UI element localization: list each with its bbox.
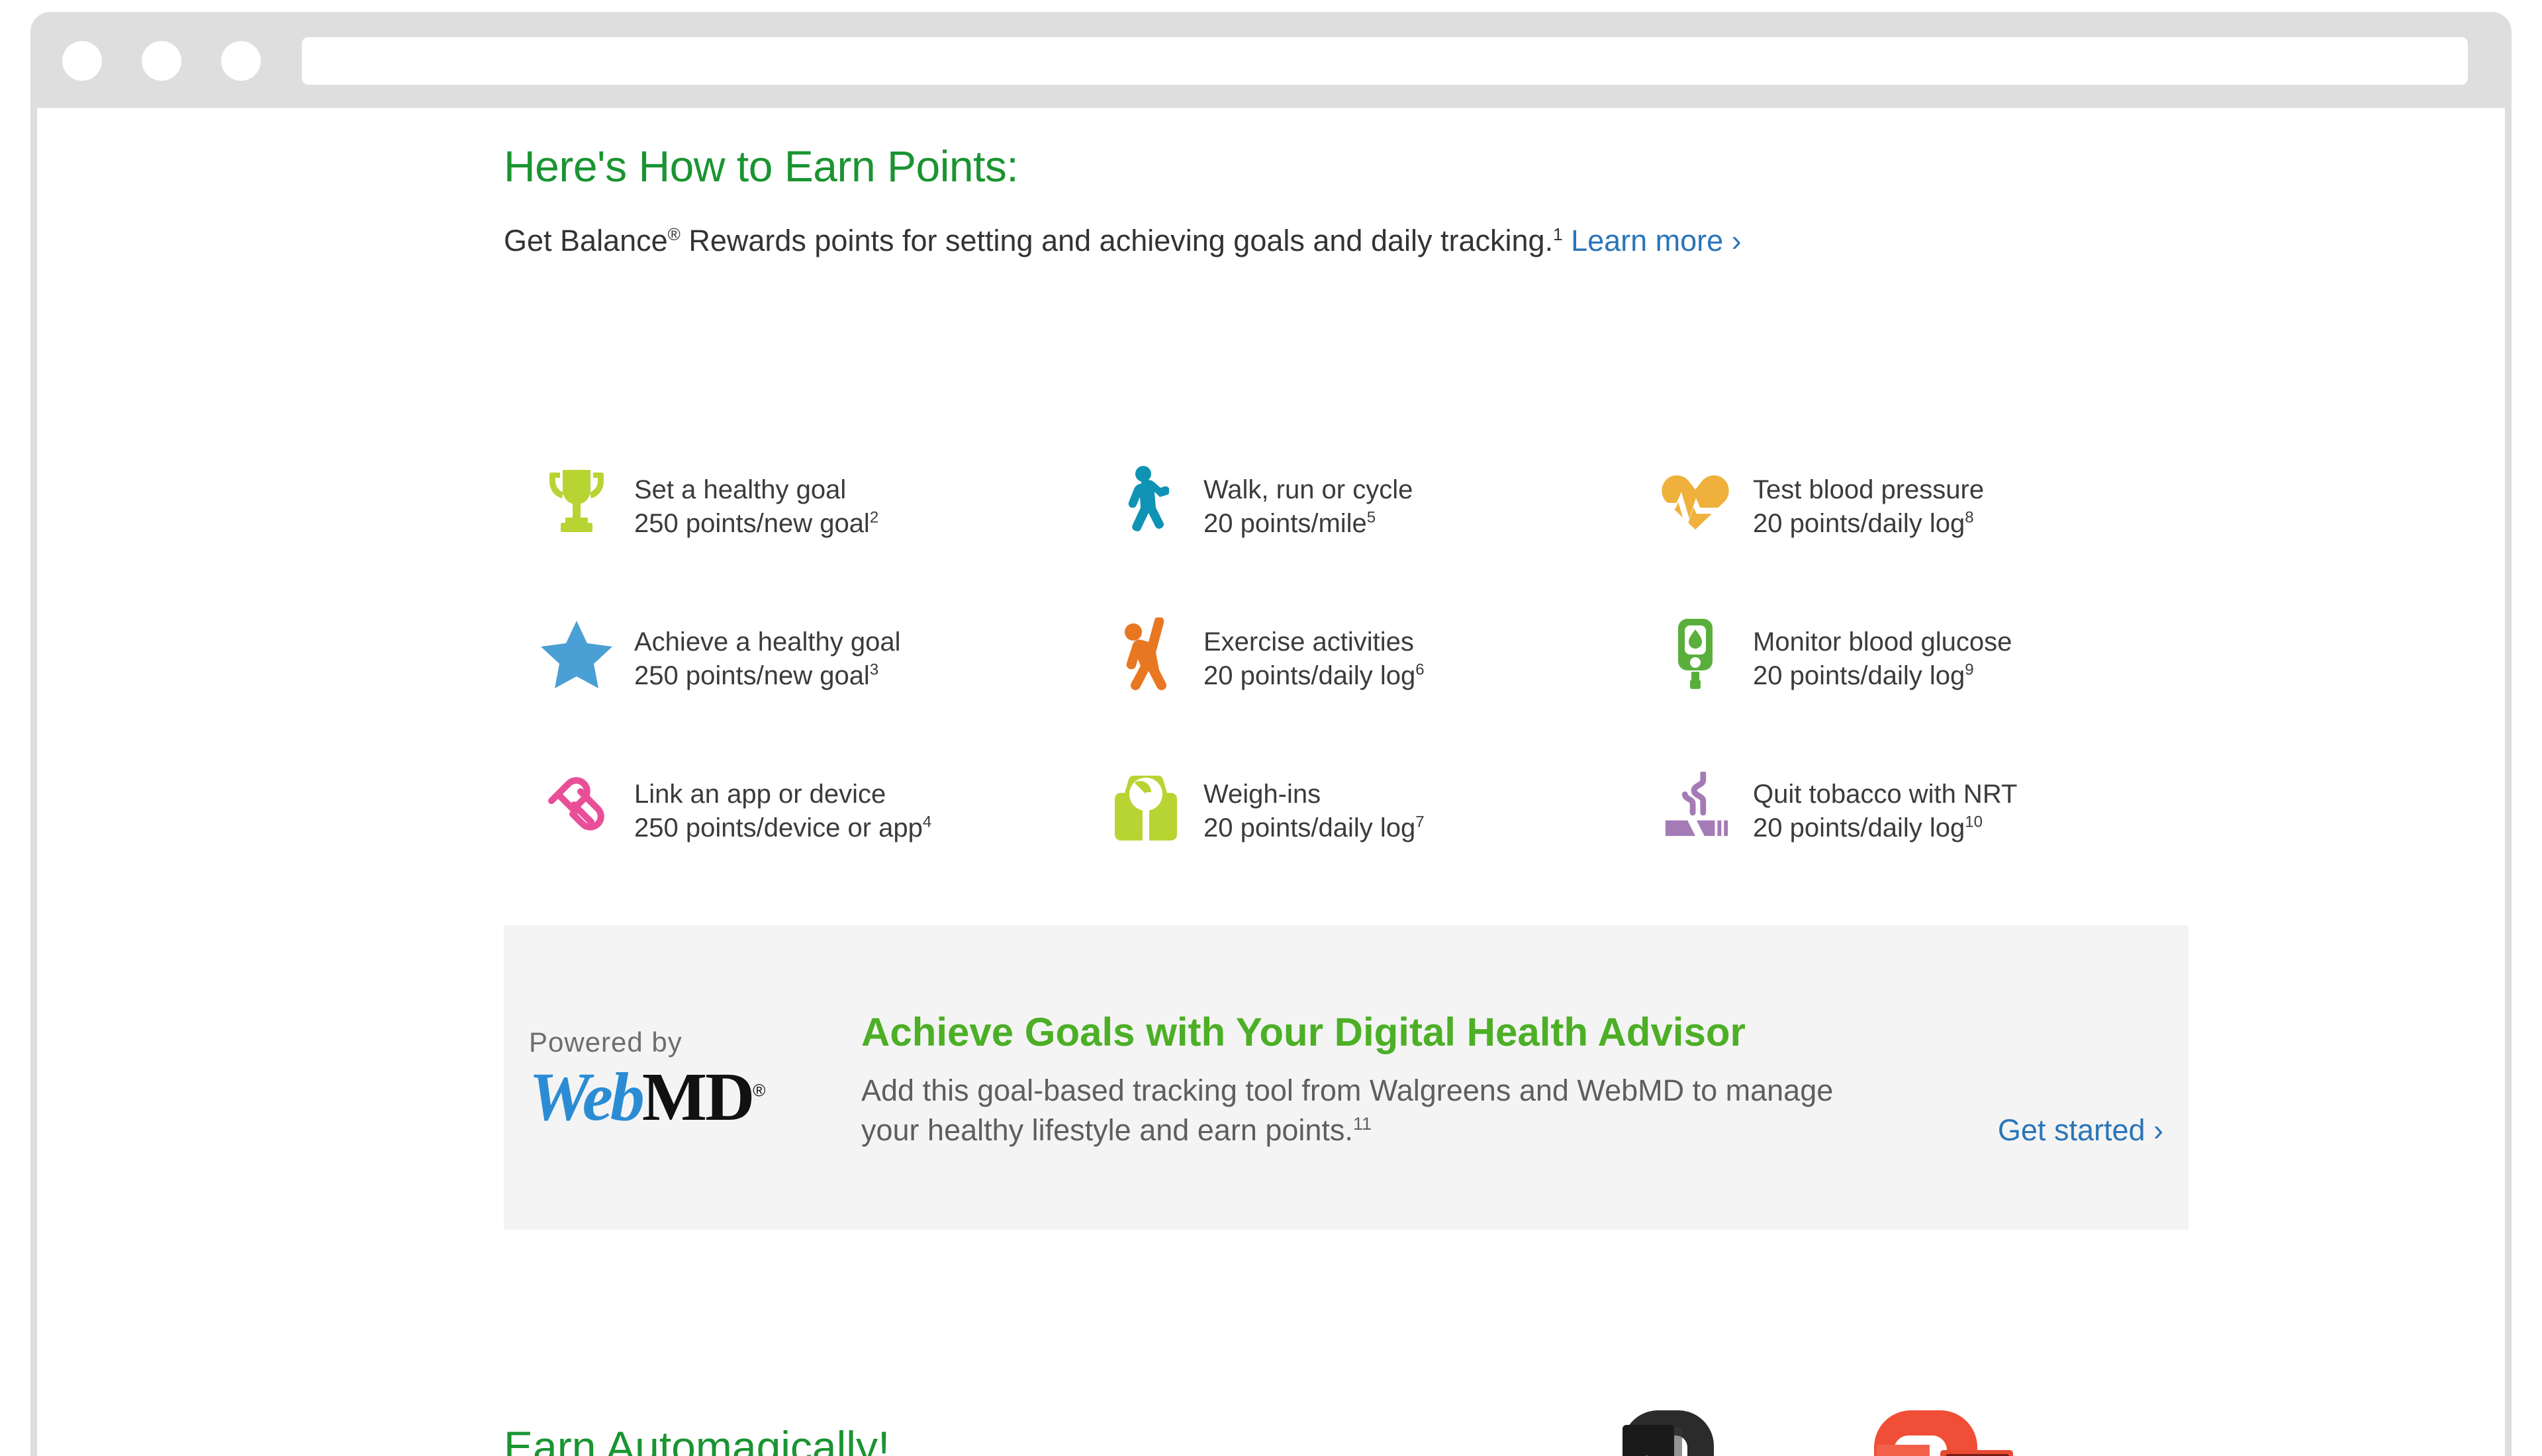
glucose-meter-icon	[1659, 611, 1732, 697]
webmd-logo-web-word: Web	[529, 1059, 642, 1135]
earn-item-quit-tobacco-with-nrt[interactable]: Quit tobacco with NRT 20 points/daily lo…	[1659, 763, 2142, 915]
earn-item-link-an-app-or-device[interactable]: Link an app or device 250 points/device …	[540, 763, 1109, 915]
earn-item-title: Exercise activities	[1203, 625, 1425, 659]
earn-item-footnote-marker: 9	[1965, 661, 1973, 679]
learn-more-link[interactable]: Learn more ›	[1571, 224, 1742, 257]
page-viewport: Here's How to Earn Points: Get Balance® …	[37, 108, 2505, 1456]
earn-item-title: Set a healthy goal	[634, 473, 878, 507]
webmd-headline: Achieve Goals with Your Digital Health A…	[861, 1009, 2163, 1055]
earn-item-points-value: 250 points/new goal	[634, 661, 870, 690]
earn-item-points-value: 20 points/daily log	[1203, 813, 1415, 842]
earn-item-text: Achieve a healthy goal 250 points/new go…	[634, 611, 901, 693]
earn-item-weigh-ins[interactable]: Weigh-ins 20 points/daily log7	[1109, 763, 1659, 915]
earn-item-achieve-a-healthy-goal[interactable]: Achieve a healthy goal 250 points/new go…	[540, 611, 1109, 763]
earn-item-monitor-blood-glucose[interactable]: Monitor blood glucose 20 points/daily lo…	[1659, 611, 2142, 763]
earn-item-text: Set a healthy goal 250 points/new goal2	[634, 459, 878, 541]
fitness-devices-illustration: 135	[1596, 1398, 2059, 1456]
webmd-body-line-1: Add this goal-based tracking tool from W…	[861, 1071, 2163, 1110]
exercising-person-icon	[1109, 611, 1182, 697]
webmd-logo: WebMD®	[529, 1061, 861, 1133]
no-smoking-icon	[1659, 763, 1732, 849]
earn-item-text: Walk, run or cycle 20 points/mile5	[1203, 459, 1413, 541]
webmd-body-line-2: your healthy lifestyle and earn points.1…	[861, 1111, 1372, 1150]
earn-item-title: Link an app or device	[634, 778, 931, 811]
webmd-body-line-2-text: your healthy lifestyle and earn points.	[861, 1113, 1353, 1147]
close-window-icon[interactable]	[62, 41, 102, 81]
webmd-logo-md-word: MD	[642, 1059, 753, 1135]
earn-item-points: 250 points/new goal3	[634, 659, 901, 693]
earn-item-text: Weigh-ins 20 points/daily log7	[1203, 763, 1425, 845]
earn-item-text: Quit tobacco with NRT 20 points/daily lo…	[1753, 763, 2017, 845]
earn-item-test-blood-pressure[interactable]: Test blood pressure 20 points/daily log8	[1659, 459, 2142, 611]
earn-item-points-value: 20 points/daily log	[1753, 509, 1965, 538]
earn-item-points: 250 points/device or app4	[634, 811, 931, 845]
earn-item-points: 250 points/new goal2	[634, 507, 878, 541]
earn-item-points: 20 points/daily log6	[1203, 659, 1425, 693]
earn-item-title: Achieve a healthy goal	[634, 625, 901, 659]
maximize-window-icon[interactable]	[221, 41, 261, 81]
earn-automagically-title: Earn Automagically!	[504, 1422, 890, 1456]
earn-item-points-value: 20 points/daily log	[1753, 813, 1965, 842]
earn-item-footnote-marker: 10	[1965, 813, 1983, 831]
browser-titlebar	[30, 12, 2512, 108]
page-title: Here's How to Earn Points:	[504, 141, 1018, 191]
earn-points-row: Link an app or device 250 points/device …	[540, 763, 2142, 915]
webmd-promo-banner[interactable]: Powered by WebMD® Achieve Goals with You…	[504, 925, 2189, 1230]
registered-trademark-mark: ®	[668, 224, 681, 244]
earn-item-title: Weigh-ins	[1203, 778, 1425, 811]
link-chain-icon	[540, 763, 613, 849]
weight-scale-icon	[1109, 763, 1182, 849]
earn-item-points-value: 20 points/mile	[1203, 509, 1367, 538]
walking-person-icon	[1109, 459, 1182, 545]
earn-points-row: Achieve a healthy goal 250 points/new go…	[540, 611, 2142, 763]
earn-item-footnote-marker: 7	[1415, 813, 1424, 831]
trophy-icon	[540, 459, 613, 545]
powered-by-label: Powered by	[529, 1026, 861, 1058]
intro-paragraph: Get Balance® Rewards points for setting …	[504, 224, 1742, 258]
earn-item-points: 20 points/daily log10	[1753, 811, 2017, 845]
earn-item-title: Test blood pressure	[1753, 473, 1984, 507]
get-started-link[interactable]: Get started ›	[1998, 1113, 2163, 1148]
earn-item-set-a-healthy-goal[interactable]: Set a healthy goal 250 points/new goal2	[540, 459, 1109, 611]
address-bar[interactable]	[302, 37, 2468, 85]
intro-text-middle: Rewards points for setting and achieving…	[681, 224, 1553, 257]
earn-item-footnote-marker: 8	[1965, 509, 1973, 527]
earn-item-points: 20 points/daily log8	[1753, 507, 1984, 541]
black-fitness-tracker	[1623, 1410, 1714, 1456]
earn-item-footnote-marker: 6	[1415, 661, 1424, 679]
earn-points-grid: Set a healthy goal 250 points/new goal2	[540, 459, 2142, 915]
minimize-window-icon[interactable]	[142, 41, 181, 81]
earn-points-row: Set a healthy goal 250 points/new goal2	[540, 459, 2142, 611]
intro-text-before: Get Balance	[504, 224, 668, 257]
browser-window: Here's How to Earn Points: Get Balance® …	[30, 12, 2512, 1456]
earn-item-text: Exercise activities 20 points/daily log6	[1203, 611, 1425, 693]
earn-item-footnote-marker: 3	[870, 661, 878, 679]
earn-item-title: Walk, run or cycle	[1203, 473, 1413, 507]
webmd-registered-mark: ®	[753, 1081, 765, 1101]
earn-item-footnote-marker: 2	[870, 509, 878, 527]
webmd-copy-block: Achieve Goals with Your Digital Health A…	[861, 1005, 2189, 1150]
star-icon	[540, 611, 613, 697]
earn-item-points: 20 points/mile5	[1203, 507, 1413, 541]
earn-item-text: Monitor blood glucose 20 points/daily lo…	[1753, 611, 2012, 693]
earn-item-points-value: 20 points/daily log	[1203, 661, 1415, 690]
earn-item-points: 20 points/daily log9	[1753, 659, 2012, 693]
earn-item-points-value: 250 points/device or app	[634, 813, 923, 842]
earn-item-exercise-activities[interactable]: Exercise activities 20 points/daily log6	[1109, 611, 1659, 763]
webmd-logo-block: Powered by WebMD®	[504, 1021, 861, 1133]
page-content: Here's How to Earn Points: Get Balance® …	[37, 108, 2505, 1456]
earn-item-points-value: 20 points/daily log	[1753, 661, 1965, 690]
intro-footnote-marker: 1	[1553, 224, 1562, 244]
earn-item-text: Link an app or device 250 points/device …	[634, 763, 931, 845]
earn-item-walk-run-or-cycle[interactable]: Walk, run or cycle 20 points/mile5	[1109, 459, 1659, 611]
heart-pulse-icon	[1659, 459, 1732, 545]
earn-item-footnote-marker: 4	[923, 813, 931, 831]
earn-item-footnote-marker: 5	[1367, 509, 1376, 527]
earn-item-points: 20 points/daily log7	[1203, 811, 1425, 845]
earn-item-title: Monitor blood glucose	[1753, 625, 2012, 659]
webmd-body-line-2-row: your healthy lifestyle and earn points.1…	[861, 1111, 2163, 1150]
webmd-footnote-marker: 11	[1353, 1114, 1372, 1134]
red-fitness-tracker: 135	[1874, 1410, 2013, 1456]
earn-item-title: Quit tobacco with NRT	[1753, 778, 2017, 811]
earn-item-text: Test blood pressure 20 points/daily log8	[1753, 459, 1984, 541]
earn-item-points-value: 250 points/new goal	[634, 509, 870, 538]
